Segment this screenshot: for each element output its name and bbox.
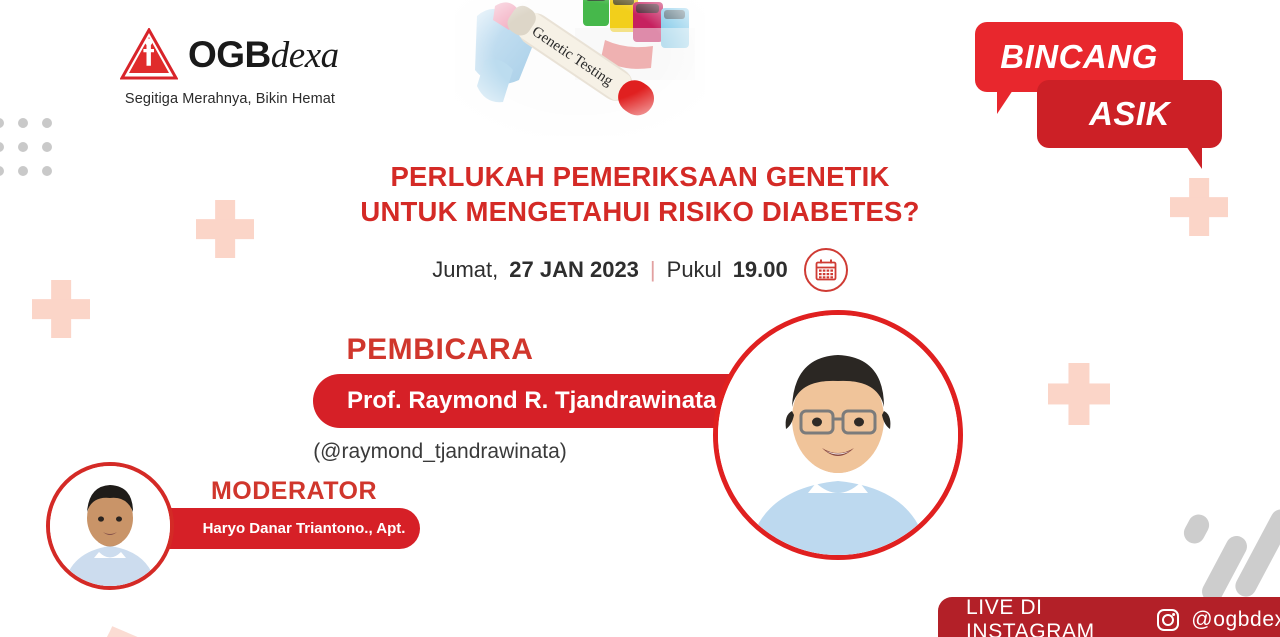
calendar-icon [804, 248, 848, 292]
live-text: LIVE DI INSTAGRAM [966, 596, 1145, 637]
schedule-row: Jumat, 27 JAN 2023 | Pukul 19.00 [0, 248, 1280, 292]
schedule-separator: | [650, 257, 656, 283]
slash-decoration [1180, 511, 1213, 547]
schedule-day: Jumat, [432, 257, 498, 283]
asik-bubble: ASIK [1037, 80, 1222, 148]
page-title: PERLUKAH PEMERIKSAAN GENETIK UNTUK MENGE… [0, 160, 1280, 229]
headline-line-1: PERLUKAH PEMERIKSAAN GENETIK [0, 160, 1280, 195]
schedule-time: 19.00 [733, 257, 788, 283]
poster-canvas: OGBdexa Segitiga Merahnya, Bikin Hemat [0, 0, 1280, 637]
speaker-avatar [713, 310, 963, 560]
schedule-date: 27 JAN 2023 [509, 257, 639, 283]
moderator-name-banner: Haryo Danar Triantono., Apt. [140, 508, 420, 549]
instagram-icon [1156, 608, 1180, 632]
logo-wordmark: OGBdexa [188, 36, 339, 74]
ogb-dexa-logo: OGBdexa Segitiga Merahnya, Bikin Hemat [120, 26, 340, 107]
moderator-role-label: MODERATOR [168, 477, 420, 506]
headline-line-2: UNTUK MENGETAHUI RISIKO DIABETES? [0, 195, 1280, 230]
bincang-asik-badge: BINCANG ASIK [975, 22, 1225, 162]
schedule-time-label: Pukul [667, 257, 722, 283]
logo-dexa-text: dexa [271, 35, 339, 76]
live-instagram-bar[interactable]: LIVE DI INSTAGRAM @ogbdexa [938, 597, 1280, 637]
plus-decoration [1048, 363, 1110, 425]
speaker-name: Prof. Raymond R. Tjandrawinata [347, 387, 716, 415]
asik-text: ASIK [1089, 95, 1170, 133]
bincang-text: BINCANG [1000, 38, 1158, 76]
genetic-testing-photo: Genetic Testing [455, 0, 705, 136]
logo-ogb-text: OGB [188, 34, 271, 75]
moderator-name: Haryo Danar Triantono., Apt. [203, 520, 406, 537]
red-triangle-flask-icon [120, 28, 178, 82]
moderator-avatar [46, 462, 174, 590]
logo-tagline: Segitiga Merahnya, Bikin Hemat [120, 91, 340, 107]
live-handle: @ogbdexa [1191, 608, 1280, 632]
